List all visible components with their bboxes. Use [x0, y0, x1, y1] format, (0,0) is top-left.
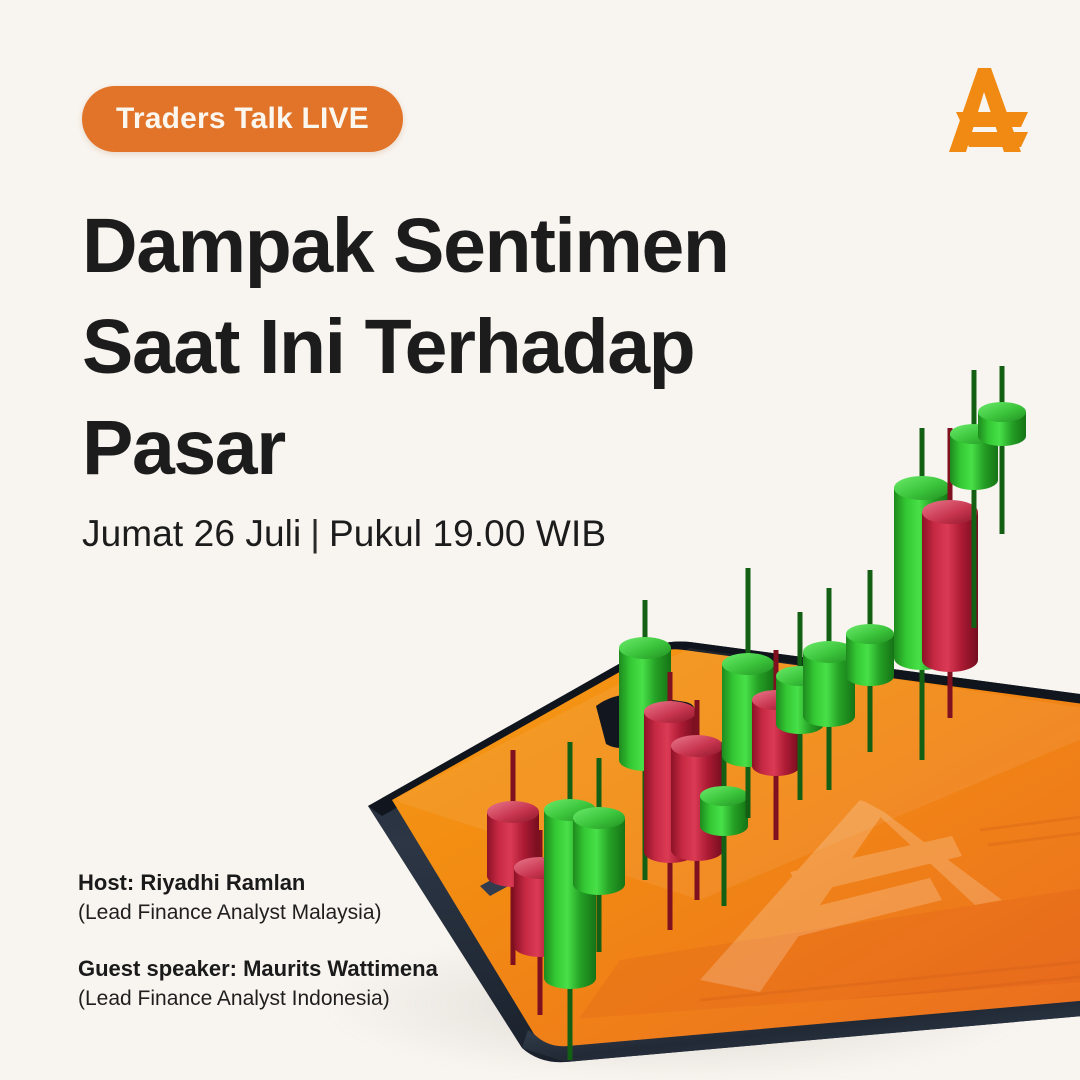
- letter-a-logo-icon: [932, 60, 1036, 164]
- host-credit: Host: Riyadhi Ramlan (Lead Finance Analy…: [78, 868, 548, 928]
- host-name: Host: Riyadhi Ramlan: [78, 868, 548, 898]
- guest-credit: Guest speaker: Maurits Wattimena (Lead F…: [78, 954, 548, 1014]
- speaker-credits: Host: Riyadhi Ramlan (Lead Finance Analy…: [78, 868, 548, 1014]
- headline-line-3: Pasar: [82, 398, 802, 499]
- live-badge-label: Traders Talk LIVE: [116, 102, 369, 136]
- guest-role: (Lead Finance Analyst Indonesia): [78, 984, 548, 1014]
- event-date: Jumat 26 Juli: [82, 513, 301, 554]
- page-title: Dampak Sentimen Saat Ini Terhadap Pasar: [82, 196, 802, 499]
- event-datetime: Jumat 26 Juli|Pukul 19.00 WIB: [82, 513, 606, 555]
- host-role: (Lead Finance Analyst Malaysia): [78, 898, 548, 928]
- headline-line-1: Dampak Sentimen: [82, 196, 802, 297]
- poster-canvas: Traders Talk LIVE Dampak Sentimen Saat I…: [0, 0, 1080, 1080]
- headline-line-2: Saat Ini Terhadap: [82, 297, 802, 398]
- datetime-separator: |: [301, 513, 329, 555]
- live-badge: Traders Talk LIVE: [82, 86, 403, 152]
- guest-name: Guest speaker: Maurits Wattimena: [78, 954, 548, 984]
- event-time: Pukul 19.00 WIB: [329, 513, 606, 554]
